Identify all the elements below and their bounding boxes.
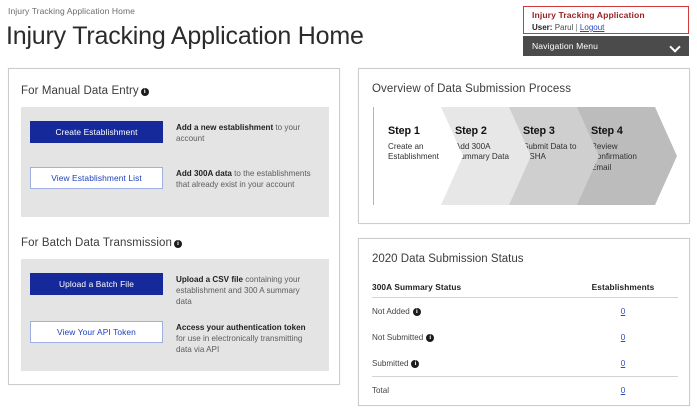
user-separator: | [576,23,578,32]
table-row: Submitted i 0 [372,350,678,377]
column-header-establishments: Establishments [568,279,678,298]
user-label: User: [532,23,552,32]
count-cell-total: 0 [568,377,678,404]
upload-batch-file-desc-bold: Upload a CSV file [176,275,243,284]
column-header-status: 300A Summary Status [372,279,568,298]
login-info-box: Injury Tracking Application User: Parul … [523,6,689,34]
info-icon[interactable]: i [411,360,419,368]
batch-data-transmission-heading: For Batch Data Transmission i [21,237,182,249]
count-link-submitted[interactable]: 0 [621,359,626,368]
breadcrumb: Injury Tracking Application Home [8,6,135,16]
view-establishment-list-description: Add 300A data to the establishments that… [176,167,316,190]
view-establishment-list-desc-bold: Add 300A data [176,169,232,178]
count-link-total[interactable]: 0 [621,386,626,395]
table-row-total: Total 0 [372,377,678,404]
count-link-not-submitted[interactable]: 0 [621,333,626,342]
login-app-name: Injury Tracking Application [532,10,688,21]
table-header-row: 300A Summary Status Establishments [372,279,678,298]
table-row: Not Added i 0 [372,298,678,325]
navigation-menu-button[interactable]: Navigation Menu [523,36,689,56]
manual-data-entry-heading-text: For Manual Data Entry [21,85,139,97]
info-icon[interactable]: i [426,334,434,342]
process-overview-panel: Overview of Data Submission Process Step… [358,68,690,224]
view-api-token-desc-rest: for use in electronically transmitting d… [176,334,302,354]
count-cell-not-added: 0 [568,298,678,325]
status-cell-not-submitted: Not Submitted i [372,324,568,350]
process-step-3-desc: Submit Data to OSHA [523,142,585,163]
upload-batch-file-button[interactable]: Upload a Batch File [30,273,163,295]
view-api-token-desc-bold: Access your authentication token [176,323,306,332]
batch-data-transmission-heading-text: For Batch Data Transmission [21,237,172,249]
submission-status-table: 300A Summary Status Establishments Not A… [372,279,678,403]
status-label-not-added: Not Added [372,307,410,316]
login-user-line: User: Parul | Logout [532,22,688,33]
count-link-not-added[interactable]: 0 [621,307,626,316]
view-api-token-description: Access your authentication token for use… [176,321,316,356]
status-cell-total: Total [372,377,568,404]
count-cell-submitted: 0 [568,350,678,377]
create-establishment-desc-bold: Add a new establishment [176,123,273,132]
process-overview-heading: Overview of Data Submission Process [372,83,571,95]
left-panel: For Manual Data Entry i Create Establish… [8,68,340,385]
status-label-total: Total [372,386,389,395]
count-cell-not-submitted: 0 [568,324,678,350]
page-title: Injury Tracking Application Home [6,22,364,51]
info-icon[interactable]: i [413,308,421,316]
navigation-menu-label: Navigation Menu [532,41,598,51]
info-icon[interactable]: i [141,88,149,96]
view-api-token-button[interactable]: View Your API Token [30,321,163,343]
process-step-4-desc: Review Confirmation Email [591,142,653,173]
chevron-down-icon [670,41,681,52]
status-cell-not-added: Not Added i [372,298,568,325]
upload-batch-file-description: Upload a CSV file containing your establ… [176,273,316,308]
status-label-not-submitted: Not Submitted [372,333,423,342]
process-steps: Step 1 Create an Establishment Step 2 Ad… [373,107,676,205]
process-step-1-desc: Create an Establishment [388,142,450,163]
create-establishment-description: Add a new establishment to your account [176,121,316,144]
create-establishment-button[interactable]: Create Establishment [30,121,163,143]
status-label-submitted: Submitted [372,359,408,368]
submission-status-panel: 2020 Data Submission Status 300A Summary… [358,238,690,406]
manual-data-entry-heading: For Manual Data Entry i [21,85,149,97]
view-api-token-row: View Your API Token Access your authenti… [30,321,316,356]
user-name: Parul [555,23,574,32]
table-row: Not Submitted i 0 [372,324,678,350]
upload-batch-file-row: Upload a Batch File Upload a CSV file co… [30,273,316,308]
create-establishment-row: Create Establishment Add a new establish… [30,121,316,144]
process-step-2-desc: Add 300A Summary Data [455,142,517,163]
view-establishment-list-row: View Establishment List Add 300A data to… [30,167,316,190]
status-cell-submitted: Submitted i [372,350,568,377]
view-establishment-list-button[interactable]: View Establishment List [30,167,163,189]
submission-status-title: 2020 Data Submission Status [372,253,524,265]
logout-link[interactable]: Logout [580,23,604,32]
process-step-4-title: Step 4 [591,125,677,138]
info-icon[interactable]: i [174,240,182,248]
